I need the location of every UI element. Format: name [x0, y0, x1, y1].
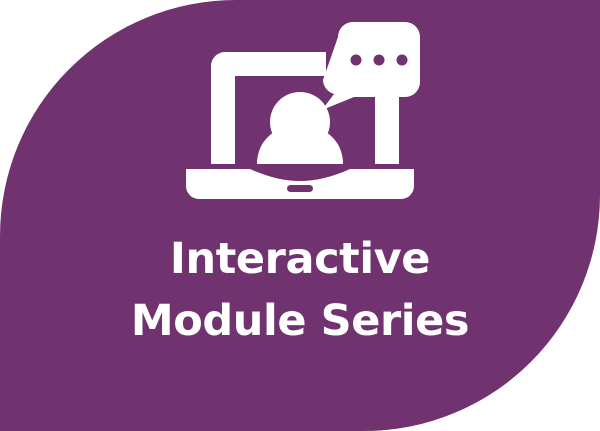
- card-title-line-1: Interactive: [0, 228, 600, 290]
- card-title-line-2: Module Series: [0, 290, 600, 352]
- interactive-module-series-card[interactable]: Interactive Module Series: [0, 0, 600, 431]
- purple-leaf-background: [0, 0, 600, 431]
- card-title: Interactive Module Series: [0, 228, 600, 352]
